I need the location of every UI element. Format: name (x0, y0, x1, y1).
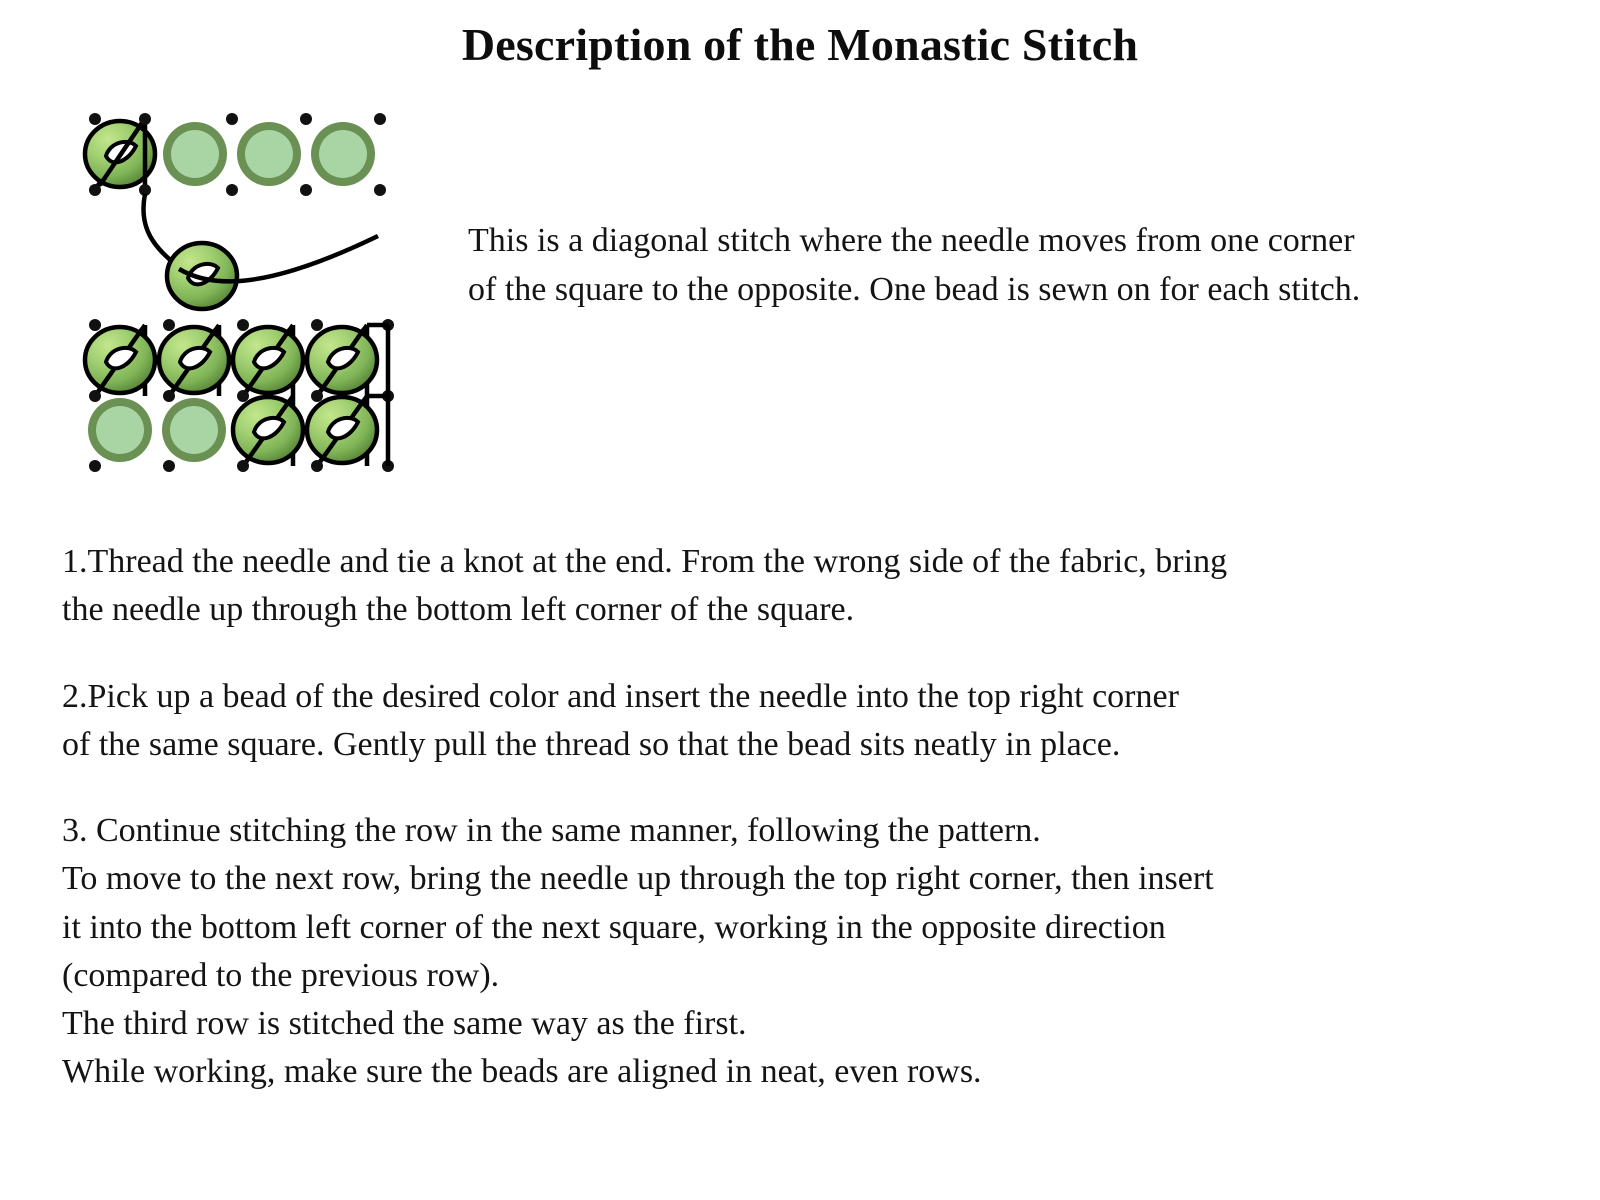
step-3-line-5: The third row is stitched the same way a… (62, 1000, 1542, 1048)
cell-row0-col2-empty (237, 122, 301, 186)
step-1: 1.Thread the needle and tie a knot at th… (62, 538, 1542, 635)
step-2-line-1: 2.Pick up a bead of the desired color an… (62, 673, 1542, 721)
step-3-line-4: (compared to the previous row). (62, 952, 1542, 1000)
step-2-line-2: of the same square. Gently pull the thre… (62, 721, 1542, 769)
step-3-line-2: To move to the next row, bring the needl… (62, 855, 1542, 903)
step-3: 3. Continue stitching the row in the sam… (62, 807, 1542, 1097)
stitch-illustration-svg (78, 90, 428, 500)
step-2: 2.Pick up a bead of the desired color an… (62, 673, 1542, 770)
diagram-bottom-panel (85, 319, 394, 472)
intro-paragraph: This is a diagonal stitch where the need… (468, 216, 1468, 315)
step-1-line-2: the needle up through the bottom left co… (62, 586, 1542, 634)
step-3-line-1: 3. Continue stitching the row in the sam… (62, 807, 1542, 855)
step-3-line-6: While working, make sure the beads are a… (62, 1048, 1542, 1096)
diagram-top-panel (85, 113, 386, 196)
instruction-steps: 1.Thread the needle and tie a knot at th… (62, 538, 1542, 1097)
cell-row0-col3-empty (311, 122, 375, 186)
intro-line-1: This is a diagonal stitch where the need… (468, 216, 1468, 265)
loose-bead-group (143, 194, 378, 309)
cell-row0-col1-empty (163, 122, 227, 186)
intro-line-2: of the square to the opposite. One bead … (468, 265, 1468, 314)
cell-row1-col0-empty (88, 398, 152, 462)
cell-row1-col1-empty (162, 398, 226, 462)
step-1-line-1: 1.Thread the needle and tie a knot at th… (62, 538, 1542, 586)
page-title: Description of the Monastic Stitch (0, 18, 1600, 71)
monastic-stitch-diagram (78, 90, 428, 500)
step-3-line-3: it into the bottom left corner of the ne… (62, 904, 1542, 952)
cell-row0-col0-bead (85, 119, 155, 190)
